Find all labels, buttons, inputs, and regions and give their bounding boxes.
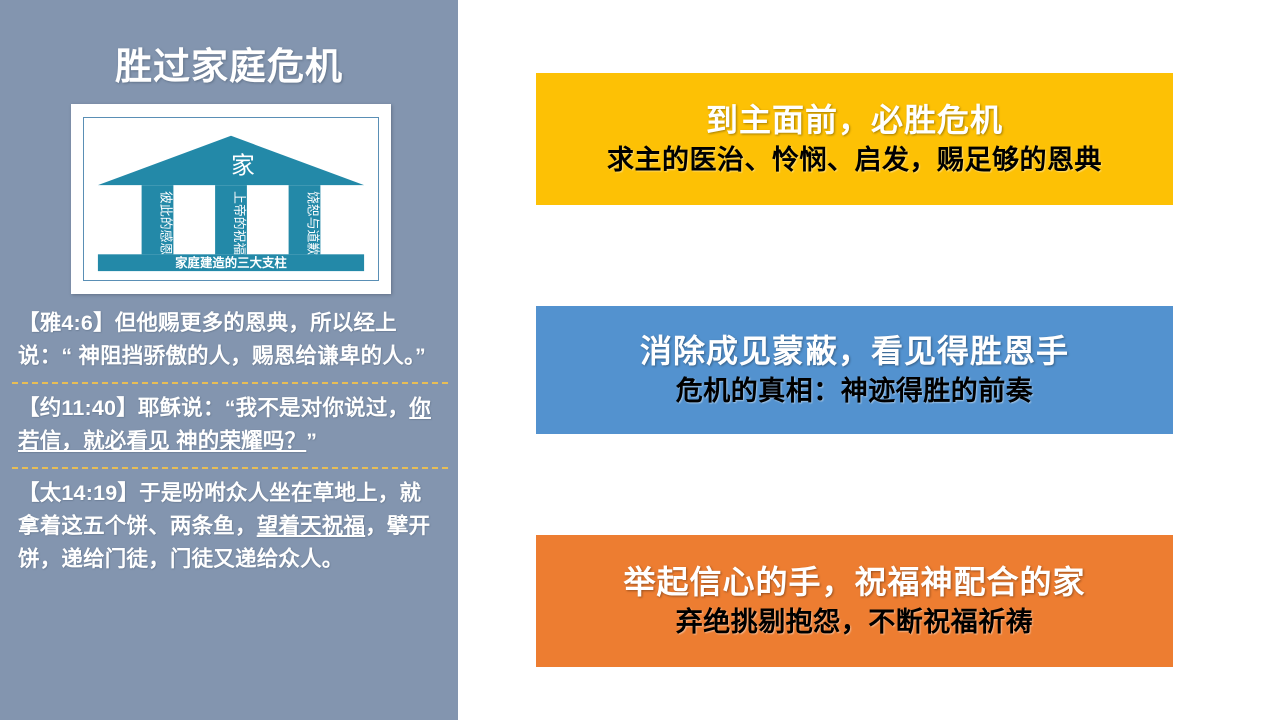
point-box-1-subheading: 求主的医治、怜悯、启发，赐足够的恩典 xyxy=(607,141,1102,179)
point-box-3-subheading: 弃绝挑剔抱怨，不断祝福祈祷 xyxy=(676,603,1034,641)
temple-illustration-svg: 家 彼此的感恩 上帝的祝福 饶恕与道歉 家庭建造的三大支柱 xyxy=(84,118,378,280)
page-title: 胜过家庭危机 xyxy=(0,36,458,90)
point-box-3: 举起信心的手，祝福神配合的家 弃绝挑剔抱怨，不断祝福祈祷 xyxy=(536,535,1173,667)
point-box-1-heading: 到主面前，必胜危机 xyxy=(706,99,1003,141)
point-box-2-heading: 消除成见蒙蔽，看见得胜恩手 xyxy=(640,330,1069,372)
point-box-3-heading: 举起信心的手，祝福神配合的家 xyxy=(623,561,1085,603)
scripture-divider-1 xyxy=(12,382,448,384)
base-shadow-line xyxy=(98,273,364,276)
roof-label: 家 xyxy=(231,152,255,179)
scripture-divider-2 xyxy=(12,467,448,469)
scripture-3-emphasis: 望着天祝福 xyxy=(257,514,366,538)
scripture-2-lead: 【约11:40】耶稣说：“我不是对你说过， xyxy=(18,396,409,420)
point-box-2: 消除成见蒙蔽，看见得胜恩手 危机的真相：神迹得胜的前奏 xyxy=(536,306,1173,434)
scripture-item-2: 【约11:40】耶稣说：“我不是对你说过，你若信，就必看见 神的荣耀吗？” xyxy=(0,388,458,464)
three-pillars-diagram: 家 彼此的感恩 上帝的祝福 饶恕与道歉 家庭建造的三大支柱 xyxy=(71,104,391,294)
scripture-2-tail: ” xyxy=(306,429,317,453)
point-box-1: 到主面前，必胜危机 求主的医治、怜悯、启发，赐足够的恩典 xyxy=(536,73,1173,205)
presentation-slide: 胜过家庭危机 家 彼此的感恩 上帝的祝福 饶恕与道歉 xyxy=(0,0,1280,720)
pillar-3-label: 饶恕与道歉 xyxy=(305,191,320,255)
base-label: 家庭建造的三大支柱 xyxy=(175,255,287,270)
scripture-item-1: 【雅4:6】但他赐更多的恩典，所以经上说：“ 神阻挡骄傲的人，赐恩给谦卑的人。” xyxy=(0,303,458,379)
scripture-item-3: 【太14:19】于是吩咐众人坐在草地上，就拿着这五个饼、两条鱼，望着天祝福，擘开… xyxy=(0,473,458,582)
scripture-list: 【雅4:6】但他赐更多的恩典，所以经上说：“ 神阻挡骄傲的人，赐恩给谦卑的人。”… xyxy=(0,303,458,582)
sidebar-panel: 胜过家庭危机 家 彼此的感恩 上帝的祝福 饶恕与道歉 xyxy=(0,0,458,720)
point-box-2-subheading: 危机的真相：神迹得胜的前奏 xyxy=(676,372,1034,410)
pillar-2-label: 上帝的祝福 xyxy=(232,191,247,255)
diagram-inner-frame: 家 彼此的感恩 上帝的祝福 饶恕与道歉 家庭建造的三大支柱 xyxy=(83,117,379,281)
pillar-1-label: 彼此的感恩 xyxy=(158,191,173,255)
